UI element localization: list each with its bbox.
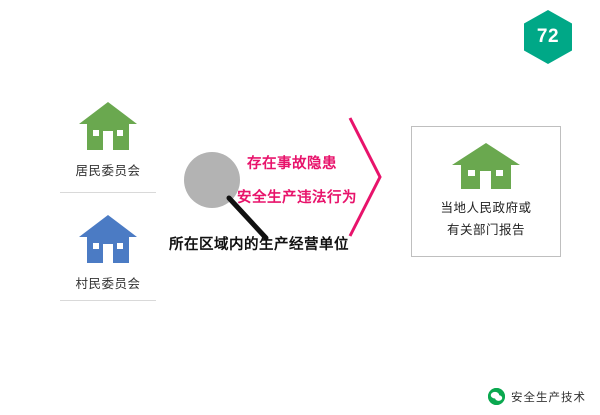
page-number: 72 — [524, 10, 572, 64]
left-item-residents-committee: 居民委员会 — [62, 100, 154, 179]
callout-black-line: 所在区域内的生产经营单位 — [169, 233, 349, 254]
left-item-villagers-committee: 村民委员会 — [62, 213, 154, 292]
left-item-label: 居民委员会 — [62, 160, 154, 179]
report-box-line-1: 当地人民政府或 — [412, 197, 560, 219]
slide-canvas: 72 居民委员会 村民委员会 — [0, 0, 600, 415]
house-icon — [77, 213, 139, 265]
left-item-label: 村民委员会 — [62, 273, 154, 292]
callout-red-line-2: 安全生产违法行为 — [237, 186, 357, 207]
report-box-line-2: 有关部门报告 — [412, 219, 560, 241]
page-number-badge: 72 — [524, 10, 572, 64]
divider-line — [60, 192, 156, 193]
wechat-logo-icon — [488, 388, 505, 405]
chevron-right-icon — [344, 112, 386, 242]
report-box: 当地人民政府或 有关部门报告 — [411, 126, 561, 257]
callout-red-line-1: 存在事故隐患 — [247, 152, 337, 173]
divider-line — [60, 300, 156, 301]
house-icon — [77, 100, 139, 152]
footer-watermark: 安全生产技术 — [488, 388, 586, 405]
house-icon — [450, 141, 522, 191]
footer-text: 安全生产技术 — [511, 389, 586, 405]
